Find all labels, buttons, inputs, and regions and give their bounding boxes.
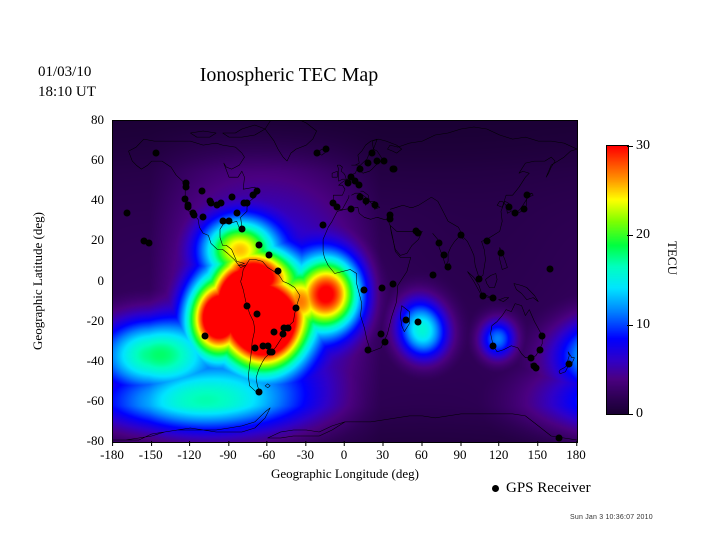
gps-receiver-marker bbox=[320, 222, 327, 229]
gps-receiver-marker bbox=[255, 388, 262, 395]
gps-receiver-marker bbox=[238, 226, 245, 233]
gps-receiver-marker bbox=[483, 238, 490, 245]
gps-receiver-marker bbox=[152, 150, 159, 157]
gps-receiver-marker bbox=[357, 194, 364, 201]
gps-receiver-marker bbox=[356, 182, 363, 189]
gps-receiver-marker bbox=[255, 242, 262, 249]
gps-receiver-marker bbox=[271, 328, 278, 335]
gps-receiver-marker bbox=[365, 160, 372, 167]
gps-receiver-marker bbox=[254, 188, 261, 195]
gps-receiver-marker bbox=[479, 292, 486, 299]
gps-receiver-marker bbox=[280, 330, 287, 337]
x-tick-label: 180 bbox=[566, 447, 586, 463]
gps-receiver-marker bbox=[313, 150, 320, 157]
x-tick-label: -90 bbox=[219, 447, 236, 463]
gps-receiver-marker bbox=[334, 204, 341, 211]
x-tick-label: -180 bbox=[100, 447, 124, 463]
gps-receiver-marker bbox=[322, 146, 329, 153]
gps-receiver-marker bbox=[371, 202, 378, 209]
gps-receiver-marker bbox=[268, 348, 275, 355]
page-title: Ionospheric TEC Map bbox=[0, 64, 578, 87]
y-tick-label: 80 bbox=[74, 112, 104, 128]
gps-receiver-marker bbox=[244, 200, 251, 207]
x-tick-label: -60 bbox=[258, 447, 275, 463]
gps-receiver-marker bbox=[390, 166, 397, 173]
colorbar-tick-label: 0 bbox=[636, 406, 643, 422]
gps-receiver-marker bbox=[536, 346, 543, 353]
gps-receiver-marker bbox=[183, 184, 190, 191]
gps-receiver-marker bbox=[369, 150, 376, 157]
gps-receiver-marker bbox=[523, 192, 530, 199]
gps-receiver-marker bbox=[201, 332, 208, 339]
gps-receiver-marker bbox=[415, 230, 422, 237]
gps-receiver-marker bbox=[254, 310, 261, 317]
colorbar bbox=[606, 145, 629, 415]
x-tick-label: -150 bbox=[139, 447, 163, 463]
x-tick-label: 0 bbox=[341, 447, 348, 463]
gps-receiver-marker bbox=[539, 332, 546, 339]
x-tick-label: -30 bbox=[297, 447, 314, 463]
y-tick-label: 60 bbox=[74, 152, 104, 168]
gps-receiver-marker bbox=[200, 214, 207, 221]
gps-receiver-marker bbox=[124, 210, 131, 217]
gps-receiver-marker bbox=[497, 250, 504, 257]
gps-receiver-marker bbox=[348, 206, 355, 213]
gps-receiver-marker bbox=[546, 266, 553, 273]
gps-receiver-marker bbox=[555, 434, 562, 441]
gps-receiver-marker bbox=[531, 362, 538, 369]
gps-receiver-marker bbox=[381, 338, 388, 345]
gps-receiver-marker bbox=[445, 264, 452, 271]
gps-receiver-marker bbox=[378, 330, 385, 337]
gps-receiver-marker bbox=[344, 180, 351, 187]
gps-receiver-marker bbox=[285, 324, 292, 331]
y-tick-label: 0 bbox=[74, 273, 104, 289]
gps-receiver-marker bbox=[566, 360, 573, 367]
gps-receiver-marker bbox=[521, 206, 528, 213]
filled-circle-marker-icon bbox=[492, 485, 499, 492]
gps-receiver-marker bbox=[490, 342, 497, 349]
tec-map-plot-area bbox=[112, 120, 578, 443]
gps-receiver-marker bbox=[244, 302, 251, 309]
x-tick-label: 30 bbox=[376, 447, 389, 463]
y-axis-label: Geographic Latitude (deg) bbox=[30, 181, 46, 381]
gps-receiver-marker bbox=[265, 252, 272, 259]
gps-receiver-marker bbox=[226, 218, 233, 225]
gps-receiver-marker bbox=[365, 346, 372, 353]
gps-receiver-marker bbox=[512, 210, 519, 217]
y-tick-label: 40 bbox=[74, 192, 104, 208]
gps-receiver-marker bbox=[198, 188, 205, 195]
gps-receiver-marker bbox=[146, 240, 153, 247]
gps-receiver-marker bbox=[191, 212, 198, 219]
gps-receiver-marker bbox=[505, 204, 512, 211]
y-tick-label: -40 bbox=[74, 353, 104, 369]
gps-receiver-marker bbox=[527, 354, 534, 361]
gps-receiver-marker bbox=[264, 342, 271, 349]
gps-receiver-marker bbox=[274, 268, 281, 275]
gps-receiver-marker bbox=[402, 316, 409, 323]
gps-receiver-marker bbox=[218, 200, 225, 207]
colorbar-tick-label: 30 bbox=[636, 138, 650, 154]
gps-receiver-marker bbox=[228, 194, 235, 201]
y-tick-label: -60 bbox=[74, 393, 104, 409]
x-tick-label: -120 bbox=[177, 447, 201, 463]
colorbar-tick-label: 20 bbox=[636, 227, 650, 243]
x-tick-label: 60 bbox=[415, 447, 428, 463]
y-tick-label: 20 bbox=[74, 232, 104, 248]
x-tick-label: 90 bbox=[454, 447, 467, 463]
gps-receiver-marker bbox=[361, 286, 368, 293]
gps-receiver-legend: GPS Receiver bbox=[492, 480, 591, 497]
y-tick-label: -20 bbox=[74, 313, 104, 329]
gps-receiver-marker bbox=[387, 212, 394, 219]
gps-receiver-marker bbox=[379, 284, 386, 291]
gps-receiver-marker bbox=[357, 166, 364, 173]
x-tick-label: 150 bbox=[528, 447, 548, 463]
gps-receiver-marker bbox=[458, 232, 465, 239]
gps-receiver-marker bbox=[293, 304, 300, 311]
gps-receiver-marker bbox=[380, 158, 387, 165]
generated-timestamp: Sun Jan 3 10:36:07 2010 bbox=[570, 514, 653, 521]
gps-receiver-marker bbox=[251, 344, 258, 351]
colorbar-gradient-canvas bbox=[607, 146, 628, 414]
gps-receiver-legend-label: GPS Receiver bbox=[506, 480, 591, 497]
gps-receiver-marker bbox=[415, 318, 422, 325]
gps-receiver-marker bbox=[233, 210, 240, 217]
gps-receiver-marker bbox=[476, 276, 483, 283]
colorbar-tick-label: 10 bbox=[636, 317, 650, 333]
gps-receiver-markers-layer bbox=[113, 121, 577, 442]
y-tick-label: -80 bbox=[74, 433, 104, 449]
gps-receiver-marker bbox=[389, 280, 396, 287]
gps-receiver-marker bbox=[441, 252, 448, 259]
x-tick-label: 120 bbox=[489, 447, 509, 463]
colorbar-label: TECU bbox=[664, 198, 680, 318]
gps-receiver-marker bbox=[429, 272, 436, 279]
gps-receiver-marker bbox=[436, 240, 443, 247]
gps-receiver-marker bbox=[490, 294, 497, 301]
